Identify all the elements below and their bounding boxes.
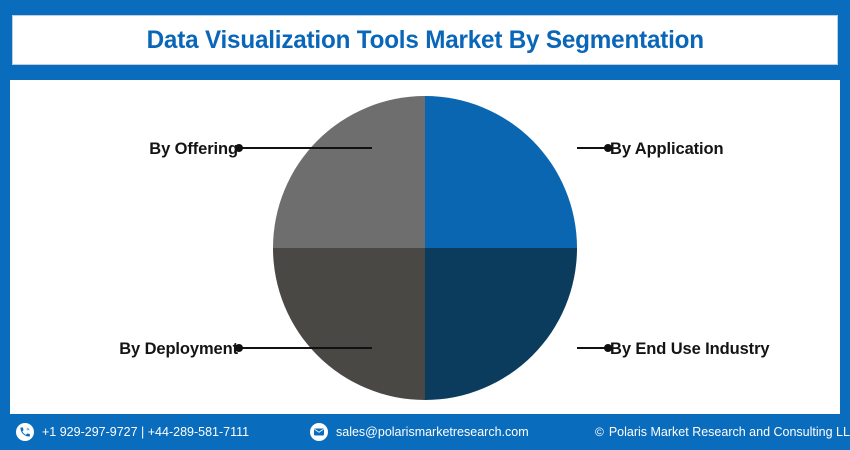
callout-label-by-offering: By Offering xyxy=(149,140,238,159)
footer-email-text: sales@polarismarketresearch.com xyxy=(336,425,529,439)
infographic-root: Data Visualization Tools Market By Segme… xyxy=(0,0,850,450)
leader-line-by-deployment xyxy=(242,347,372,349)
pie-slice-by-end-use-industry[interactable] xyxy=(425,248,577,400)
title-bar: Data Visualization Tools Market By Segme… xyxy=(12,15,838,65)
footer-copyright-text: Polaris Market Research and Consulting L… xyxy=(609,425,850,439)
callout-label-by-end-use-industry: By End Use Industry xyxy=(610,340,769,359)
callout-label-by-deployment: By Deployment xyxy=(119,340,238,359)
footer-phone[interactable]: +1 929-297-9727 | +44-289-581-7111 xyxy=(16,423,249,441)
envelope-icon xyxy=(310,423,328,441)
footer-phone-text: +1 929-297-9727 | +44-289-581-7111 xyxy=(42,425,249,439)
phone-icon xyxy=(16,423,34,441)
callout-label-by-application: By Application xyxy=(610,140,724,159)
leader-line-by-offering xyxy=(242,147,372,149)
pie-slice-by-offering[interactable] xyxy=(273,96,425,248)
copyright-icon: © xyxy=(595,425,604,439)
chart-panel: By Offering By Application By Deployment… xyxy=(10,80,840,414)
pie-chart: By Offering By Application By Deployment… xyxy=(10,80,840,414)
pie-circle xyxy=(273,96,577,400)
footer-copyright: © Polaris Market Research and Consulting… xyxy=(595,425,850,439)
footer-email[interactable]: sales@polarismarketresearch.com xyxy=(310,423,529,441)
footer-bar: +1 929-297-9727 | +44-289-581-7111 sales… xyxy=(0,414,850,450)
pie-slice-by-deployment[interactable] xyxy=(273,248,425,400)
pie-slice-by-application[interactable] xyxy=(425,96,577,248)
page-title: Data Visualization Tools Market By Segme… xyxy=(146,26,703,55)
